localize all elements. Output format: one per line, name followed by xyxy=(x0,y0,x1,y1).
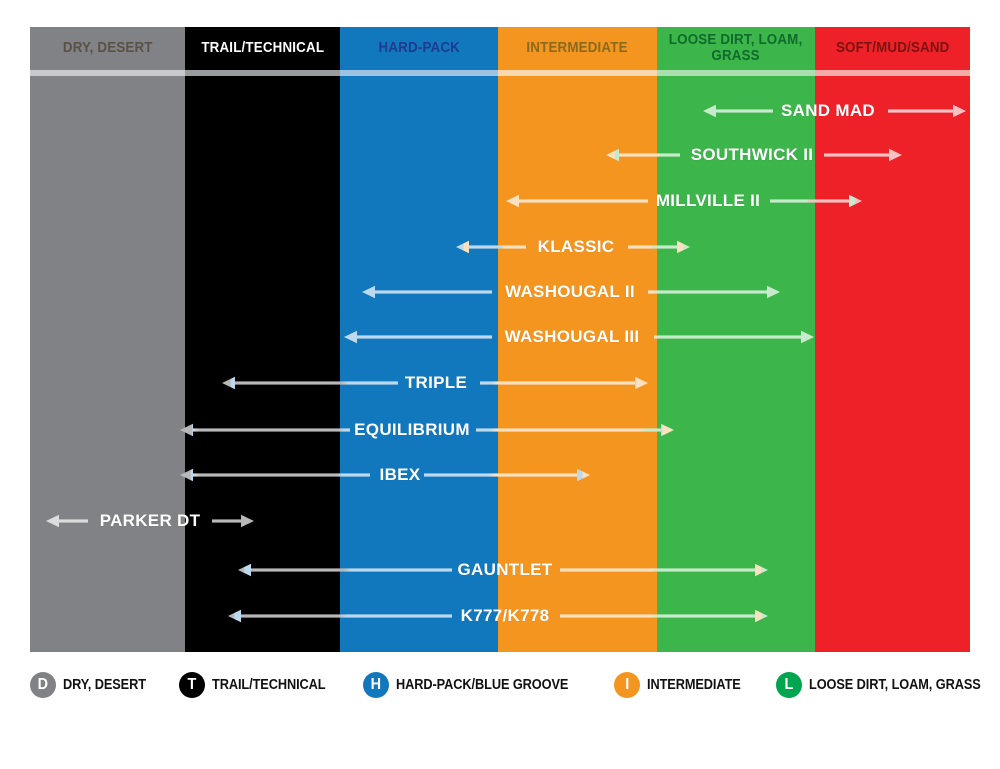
range-arrow-10-right xyxy=(560,563,768,577)
legend-badge-icon: T xyxy=(179,672,205,698)
range-arrow-6-right xyxy=(480,376,648,390)
legend-label-wrap: TRAIL/TECHNICAL xyxy=(212,677,341,693)
legend-badge-icon: I xyxy=(614,672,640,698)
tire-model-label: EQUILIBRIUM xyxy=(354,420,470,440)
tire-row[interactable]: GAUNTLET xyxy=(0,553,1000,587)
legend-item-4[interactable]: LLOOSE DIRT, LOAM, GRASS xyxy=(776,672,1000,698)
legend-label: TRAIL/TECHNICAL xyxy=(212,677,326,693)
tire-model-label: KLASSIC xyxy=(538,237,615,257)
legend-item-1[interactable]: TTRAIL/TECHNICAL xyxy=(179,672,341,698)
range-arrow-11-right xyxy=(560,609,768,623)
terrain-header-label: SOFT/MUD/SAND xyxy=(836,41,950,57)
tire-row[interactable]: EQUILIBRIUM xyxy=(0,413,1000,447)
range-arrow-1-left xyxy=(606,148,680,162)
tire-model-label: IBEX xyxy=(380,465,421,485)
terrain-chart: DRY, DESERTTRAIL/TECHNICALHARD-PACKINTER… xyxy=(0,0,1000,769)
range-arrow-5-right xyxy=(654,330,814,344)
tire-row[interactable]: IBEX xyxy=(0,458,1000,492)
legend-label: INTERMEDIATE xyxy=(647,677,741,693)
tire-row[interactable]: WASHOUGAL II xyxy=(0,275,1000,309)
terrain-legend: DDRY, DESERTTTRAIL/TECHNICALHHARD-PACK/B… xyxy=(30,665,975,705)
tire-range-rows: SAND MADSOUTHWICK IIMILLVILLE IIKLASSICW… xyxy=(0,76,1000,652)
range-arrow-2-left xyxy=(506,194,648,208)
legend-label: LOOSE DIRT, LOAM, GRASS xyxy=(809,677,981,693)
range-arrow-2-right xyxy=(770,194,862,208)
legend-badge-letter: I xyxy=(625,676,629,694)
tire-row[interactable]: KLASSIC xyxy=(0,230,1000,264)
tire-model-label: SOUTHWICK II xyxy=(691,145,814,165)
tire-row[interactable]: MILLVILLE II xyxy=(0,184,1000,218)
legend-label-wrap: HARD-PACK/BLUE GROOVE xyxy=(396,677,592,693)
legend-item-2[interactable]: HHARD-PACK/BLUE GROOVE xyxy=(363,672,592,698)
terrain-header-label: INTERMEDIATE xyxy=(527,41,628,57)
tire-model-label: WASHOUGAL II xyxy=(505,282,635,302)
terrain-header-cell-3: INTERMEDIATE xyxy=(498,27,657,70)
legend-badge-letter: L xyxy=(784,676,793,694)
range-arrow-4-left xyxy=(362,285,492,299)
tire-model-label: PARKER DT xyxy=(100,511,201,531)
tire-model-label: WASHOUGAL III xyxy=(505,327,640,347)
range-arrow-3-left xyxy=(456,240,526,254)
legend-badge-letter: D xyxy=(38,676,48,694)
legend-label-wrap: LOOSE DIRT, LOAM, GRASS xyxy=(809,677,1000,693)
legend-item-0[interactable]: DDRY, DESERT xyxy=(30,672,157,698)
range-arrow-3-right xyxy=(628,240,690,254)
tire-row[interactable]: TRIPLE xyxy=(0,366,1000,400)
legend-item-3[interactable]: IINTERMEDIATE xyxy=(614,672,753,698)
terrain-header-cell-2: HARD-PACK xyxy=(340,27,498,70)
range-arrow-0-right xyxy=(888,104,966,118)
legend-label-wrap: DRY, DESERT xyxy=(63,677,157,693)
range-arrow-7-left xyxy=(180,423,350,437)
tire-model-label: TRIPLE xyxy=(405,373,467,393)
terrain-header-label: LOOSE DIRT, LOAM, GRASS xyxy=(669,33,803,64)
tire-row[interactable]: WASHOUGAL III xyxy=(0,320,1000,354)
legend-badge-icon: D xyxy=(30,672,56,698)
tire-row[interactable]: PARKER DT xyxy=(0,504,1000,538)
range-arrow-9-left xyxy=(46,514,88,528)
range-arrow-9-right xyxy=(212,514,254,528)
range-arrow-4-right xyxy=(648,285,780,299)
terrain-header-cell-4: LOOSE DIRT, LOAM, GRASS xyxy=(657,27,815,70)
terrain-header-label: TRAIL/TECHNICAL xyxy=(201,41,324,57)
tire-model-label: GAUNTLET xyxy=(458,560,553,580)
legend-badge-letter: T xyxy=(188,676,197,694)
tire-row[interactable]: SOUTHWICK II xyxy=(0,138,1000,172)
terrain-header-row: DRY, DESERTTRAIL/TECHNICALHARD-PACKINTER… xyxy=(30,27,970,70)
range-arrow-8-right xyxy=(424,468,590,482)
terrain-header-cell-1: TRAIL/TECHNICAL xyxy=(185,27,340,70)
tire-model-label: MILLVILLE II xyxy=(656,191,760,211)
terrain-header-label: DRY, DESERT xyxy=(63,41,153,57)
tire-model-label: K777/K778 xyxy=(461,606,550,626)
legend-label-wrap: INTERMEDIATE xyxy=(647,677,753,693)
range-arrow-0-left xyxy=(703,104,773,118)
range-arrow-1-right xyxy=(824,148,902,162)
range-arrow-6-left xyxy=(222,376,398,390)
terrain-header-label: HARD-PACK xyxy=(378,41,459,57)
range-arrow-5-left xyxy=(344,330,492,344)
terrain-header-cell-5: SOFT/MUD/SAND xyxy=(815,27,970,70)
legend-label: HARD-PACK/BLUE GROOVE xyxy=(396,677,568,693)
legend-badge-icon: L xyxy=(776,672,802,698)
range-arrow-7-right xyxy=(476,423,674,437)
legend-badge-icon: H xyxy=(363,672,389,698)
range-arrow-8-left xyxy=(180,468,370,482)
range-arrow-10-left xyxy=(238,563,452,577)
legend-badge-letter: H xyxy=(371,676,381,694)
tire-row[interactable]: SAND MAD xyxy=(0,94,1000,128)
terrain-header-cell-0: DRY, DESERT xyxy=(30,27,185,70)
tire-model-label: SAND MAD xyxy=(781,101,875,121)
tire-row[interactable]: K777/K778 xyxy=(0,599,1000,633)
legend-label: DRY, DESERT xyxy=(63,677,146,693)
range-arrow-11-left xyxy=(228,609,452,623)
